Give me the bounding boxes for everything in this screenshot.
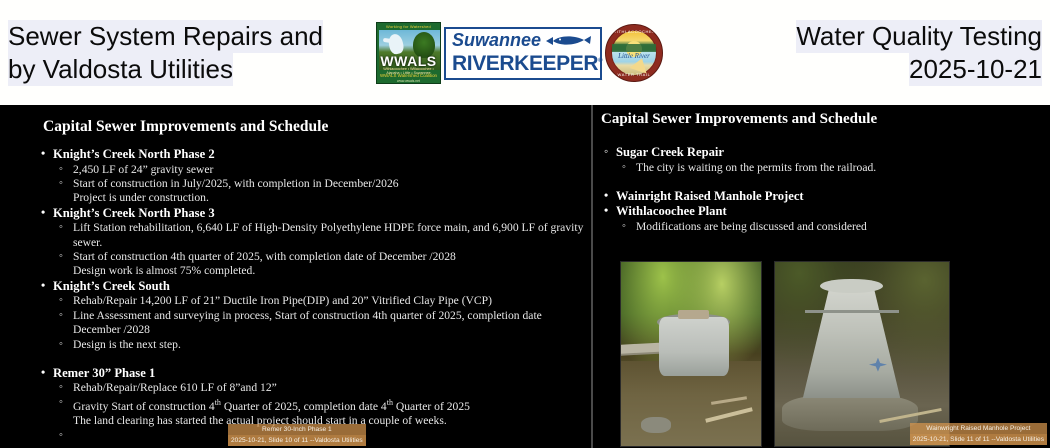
list-item: Knight’s Creek North Phase 3 — [38, 206, 590, 222]
wwals-coalition-text: WWALS Watershed Coalition — [377, 73, 440, 78]
photo-b-manhole-ring — [805, 310, 899, 313]
suwannee-riverkeeper-logo-icon: Suwannee RIVERKEEPER® — [444, 27, 602, 80]
slide-right-title: Capital Sewer Improvements and Schedule — [601, 111, 877, 128]
list-item: 2,450 LF of 24” gravity sewer — [56, 163, 590, 177]
slide-left-title: Capital Sewer Improvements and Schedule — [43, 118, 328, 136]
little-river-top-arc: WITHLACOOCHEE — [606, 29, 662, 34]
list-item: Rehab/Repair 14,200 LF of 21” Ductile Ir… — [56, 294, 590, 308]
list-item: Knight’s Creek South — [38, 279, 590, 295]
treeline-band — [612, 44, 656, 52]
little-river-bottom-arc: WATER TRAIL — [606, 72, 662, 77]
list-item: Start of construction 4th quarter of 202… — [56, 250, 590, 264]
list-item: Sugar Creek Repair — [601, 145, 1041, 161]
list-spacer — [601, 175, 1041, 189]
suwannee-riverkeeper-line1: Suwannee — [452, 31, 541, 50]
slide-right-caption: Wainwright Raised Manhole Project 2025-1… — [910, 423, 1047, 445]
slide-right-bullet-list: Sugar Creek RepairThe city is waiting on… — [601, 145, 1041, 234]
slide-right-photo-row — [620, 261, 950, 447]
suwannee-riverkeeper-line1-row: Suwannee — [452, 31, 595, 50]
photo-a-rock — [641, 417, 672, 434]
header-title-left-line1: Sewer System Repairs and — [8, 20, 323, 53]
header-title-right: Water Quality Testing 2025-10-21 — [692, 20, 1042, 86]
fish-icon — [544, 35, 592, 46]
slide-left-caption-line2: 2025-10-21, Slide 10 of 11 --Valdosta Ut… — [228, 435, 366, 446]
logo-cluster: Working for Watershed Conservation WWALS… — [376, 21, 663, 85]
little-river-inner-disc: Little River — [611, 30, 657, 76]
photo-a-tank-body — [659, 317, 729, 376]
little-river-water-trail-logo-icon: Little River WITHLACOOCHEE WATER TRAIL — [605, 24, 663, 82]
list-item: Design is the next step. — [56, 338, 590, 352]
list-item: Gravity Start of construction 4th Quarte… — [56, 396, 590, 414]
list-item: Lift Station rehabilitation, 6,640 LF of… — [56, 221, 590, 250]
header-title-right-line1: Water Quality Testing — [796, 20, 1042, 53]
list-item: The city is waiting on the permits from … — [619, 161, 1041, 175]
slide-right[interactable]: Capital Sewer Improvements and Schedule … — [593, 105, 1050, 448]
riverkeeper-word: RIVERKEEPER — [452, 52, 598, 75]
header-title-left: Sewer System Repairs and by Valdosta Uti… — [8, 20, 368, 86]
slides-container: Capital Sewer Improvements and Schedule … — [0, 105, 1050, 448]
wwals-bird-icon — [387, 33, 405, 55]
registered-mark-icon: ® — [598, 58, 602, 64]
slide-right-caption-line1: Wainwright Raised Manhole Project — [910, 423, 1047, 434]
list-item: Withlacoochee Plant — [601, 204, 1041, 220]
list-item: Rehab/Repair/Replace 610 LF of 8”and 12” — [56, 381, 590, 395]
list-item: Start of construction in July/2025, with… — [56, 177, 590, 191]
wwals-logo-icon: Working for Watershed Conservation WWALS… — [376, 22, 441, 84]
photo-a-lid — [678, 310, 709, 319]
list-spacer — [38, 352, 590, 366]
list-item: Project is under construction. — [56, 191, 590, 205]
photo-b-concrete-base — [782, 394, 918, 431]
header-title-left-line2: by Valdosta Utilities — [8, 53, 233, 86]
slide-left-caption: Remer 30-Inch Phase 1 2025-10-21, Slide … — [228, 424, 366, 446]
raised-manhole-photo — [774, 261, 950, 447]
slide-right-caption-line2: 2025-10-21, Slide 11 of 11 --Valdosta Ut… — [910, 434, 1047, 445]
wwals-url-text: www.wwals.net — [377, 79, 440, 83]
slide-left[interactable]: Capital Sewer Improvements and Schedule … — [0, 105, 591, 448]
list-item: Knight’s Creek North Phase 2 — [38, 147, 590, 163]
list-item: Line Assessment and surveying in process… — [56, 309, 590, 338]
list-item: Wainright Raised Manhole Project — [601, 189, 1041, 205]
header-title-right-line2: 2025-10-21 — [909, 53, 1042, 86]
slide-left-bullet-list: Knight’s Creek North Phase 22,450 LF of … — [38, 147, 590, 429]
page-header: Sewer System Repairs and by Valdosta Uti… — [0, 0, 1050, 105]
photo-b-manhole-lip — [820, 279, 883, 294]
list-item: Remer 30” Phase 1 — [38, 366, 590, 382]
suwannee-riverkeeper-line2: RIVERKEEPER® — [452, 50, 595, 75]
list-item: Design work is almost 75% completed. — [56, 264, 590, 278]
slide-left-caption-line1: Remer 30-Inch Phase 1 — [228, 424, 366, 435]
slideshow-page: Sewer System Repairs and by Valdosta Uti… — [0, 0, 1050, 448]
list-item: Modifications are being discussed and co… — [619, 220, 1041, 234]
manhole-structure-photo — [620, 261, 762, 447]
